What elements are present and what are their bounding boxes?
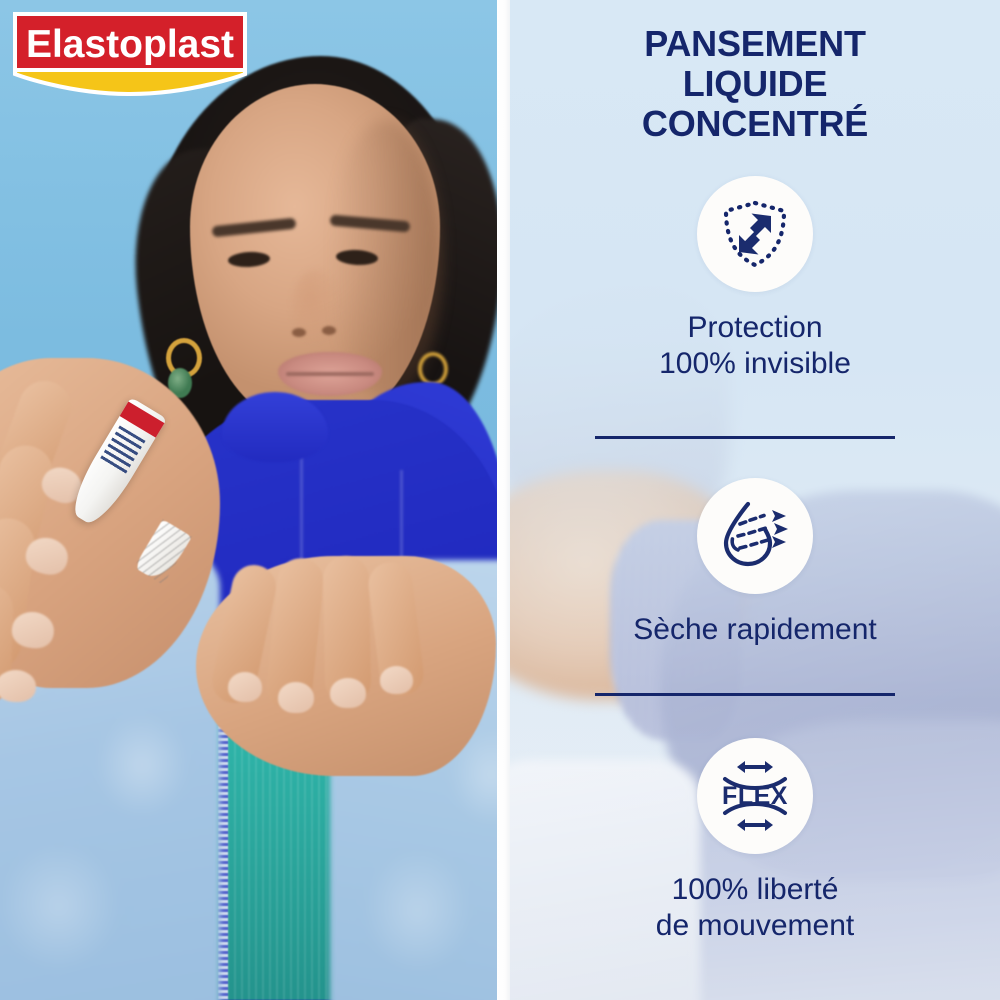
model-nostril-right [322, 326, 336, 335]
feature-flexibility: FLEX 100% liberté de mouvement [510, 738, 1000, 944]
model-lip-line [286, 372, 374, 376]
drying-droplet-icon-badge [697, 478, 813, 594]
headline: PANSEMENT LIQUIDE CONCENTRÉ [510, 24, 1000, 144]
feature-flexibility-line-2: de mouvement [510, 908, 1000, 944]
headline-line-2: LIQUIDE [510, 64, 1000, 104]
elastoplast-logo: Elastoplast [13, 12, 247, 96]
model-nostril-left [292, 328, 306, 337]
feature-fast-drying-label: Sèche rapidement [510, 612, 1000, 648]
flex-icon-text: FLEX [722, 782, 788, 810]
headline-line-1: PANSEMENT [510, 24, 1000, 64]
flex-icon-badge: FLEX [697, 738, 813, 854]
panel-divider [497, 0, 510, 1000]
benefits-panel: PANSEMENT LIQUIDE CONCENTRÉ Protection [510, 0, 1000, 1000]
shield-arrows-icon [718, 197, 792, 271]
lifestyle-photo-panel: Elastoplast [0, 0, 497, 1000]
feature-protection-line-1: Protection [510, 310, 1000, 346]
shield-arrows-icon-badge [697, 176, 813, 292]
model-right-hand [196, 556, 496, 776]
drying-droplet-icon [716, 498, 794, 574]
feature-fast-drying: Sèche rapidement [510, 478, 1000, 648]
section-rule-1 [595, 436, 895, 439]
flex-icon: FLEX [715, 757, 795, 835]
section-rule-2 [595, 693, 895, 696]
feature-protection-label: Protection 100% invisible [510, 310, 1000, 382]
headline-line-3: CONCENTRÉ [510, 104, 1000, 144]
model-earring-right [418, 352, 448, 386]
feature-protection: Protection 100% invisible [510, 176, 1000, 382]
feature-flexibility-line-1: 100% liberté [510, 872, 1000, 908]
feature-flexibility-label: 100% liberté de mouvement [510, 872, 1000, 944]
feature-fast-drying-line-1: Sèche rapidement [510, 612, 1000, 648]
feature-protection-line-2: 100% invisible [510, 346, 1000, 382]
product-infographic-canvas: Elastoplast PANSEMENT LIQUIDE CONCENTRÉ [0, 0, 1000, 1000]
logo-wordmark: Elastoplast [26, 23, 234, 66]
